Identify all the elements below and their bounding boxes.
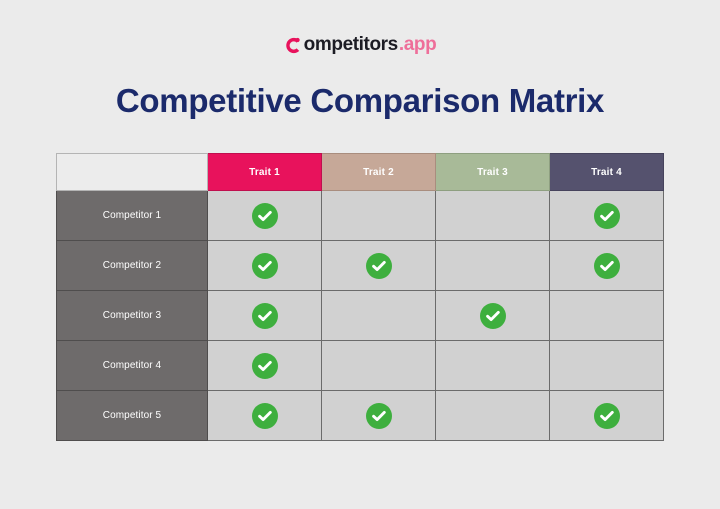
matrix-cell-r3-c4[interactable] (550, 291, 664, 341)
column-header-trait-1: Trait 1 (208, 154, 322, 191)
comparison-matrix: Trait 1 Trait 2 Trait 3 Trait 4 Competit… (56, 153, 664, 441)
matrix-cell-r4-c2[interactable] (322, 341, 436, 391)
matrix-cell-r1-c1[interactable] (208, 191, 322, 241)
matrix-cell-r2-c4[interactable] (550, 241, 664, 291)
row-label-competitor-3: Competitor 3 (57, 291, 208, 341)
logo-lockup: ompetitors .app (284, 35, 437, 54)
row-label-competitor-4: Competitor 4 (57, 341, 208, 391)
header-row: Trait 1 Trait 2 Trait 3 Trait 4 (57, 154, 664, 191)
check-circle-icon (252, 353, 278, 379)
check-circle-icon (252, 203, 278, 229)
matrix-cell-r3-c2[interactable] (322, 291, 436, 341)
check-circle-icon (594, 203, 620, 229)
matrix-cell-r2-c3[interactable] (436, 241, 550, 291)
column-header-trait-2: Trait 2 (322, 154, 436, 191)
matrix-cell-r1-c3[interactable] (436, 191, 550, 241)
matrix-cell-r3-c1[interactable] (208, 291, 322, 341)
check-circle-icon (252, 253, 278, 279)
matrix-cell-r3-c3[interactable] (436, 291, 550, 341)
brand-logo: ompetitors .app (0, 30, 720, 58)
check-circle-icon (366, 253, 392, 279)
row-label-competitor-2: Competitor 2 (57, 241, 208, 291)
matrix-cell-r1-c2[interactable] (322, 191, 436, 241)
matrix-cell-r1-c4[interactable] (550, 191, 664, 241)
row-label-competitor-1: Competitor 1 (57, 191, 208, 241)
logo-name-main: ompetitors (304, 35, 398, 54)
check-circle-icon (366, 403, 392, 429)
matrix-cell-r4-c3[interactable] (436, 341, 550, 391)
page-title: Competitive Comparison Matrix (0, 82, 720, 120)
check-circle-icon (252, 303, 278, 329)
column-header-trait-4: Trait 4 (550, 154, 664, 191)
matrix-cell-r2-c1[interactable] (208, 241, 322, 291)
matrix-cell-r5-c4[interactable] (550, 391, 664, 441)
matrix-row: Competitor 2 (57, 241, 664, 291)
matrix-cell-r2-c2[interactable] (322, 241, 436, 291)
matrix-corner-cell (57, 154, 208, 191)
matrix-row: Competitor 5 (57, 391, 664, 441)
row-label-competitor-5: Competitor 5 (57, 391, 208, 441)
check-circle-icon (252, 403, 278, 429)
matrix-cell-r5-c3[interactable] (436, 391, 550, 441)
matrix-cell-r4-c4[interactable] (550, 341, 664, 391)
column-header-trait-3: Trait 3 (436, 154, 550, 191)
matrix-cell-r4-c1[interactable] (208, 341, 322, 391)
matrix-cell-r5-c2[interactable] (322, 391, 436, 441)
matrix-header: Trait 1 Trait 2 Trait 3 Trait 4 (57, 154, 664, 191)
matrix-row: Competitor 4 (57, 341, 664, 391)
matrix-row: Competitor 1 (57, 191, 664, 241)
check-circle-icon (594, 253, 620, 279)
check-circle-icon (480, 303, 506, 329)
matrix-cell-r5-c1[interactable] (208, 391, 322, 441)
matrix-body: Competitor 1Competitor 2Competitor 3Comp… (57, 191, 664, 441)
check-circle-icon (594, 403, 620, 429)
logo-name-suffix: .app (399, 35, 436, 54)
matrix-row: Competitor 3 (57, 291, 664, 341)
competitors-c-logo-icon (284, 36, 303, 55)
